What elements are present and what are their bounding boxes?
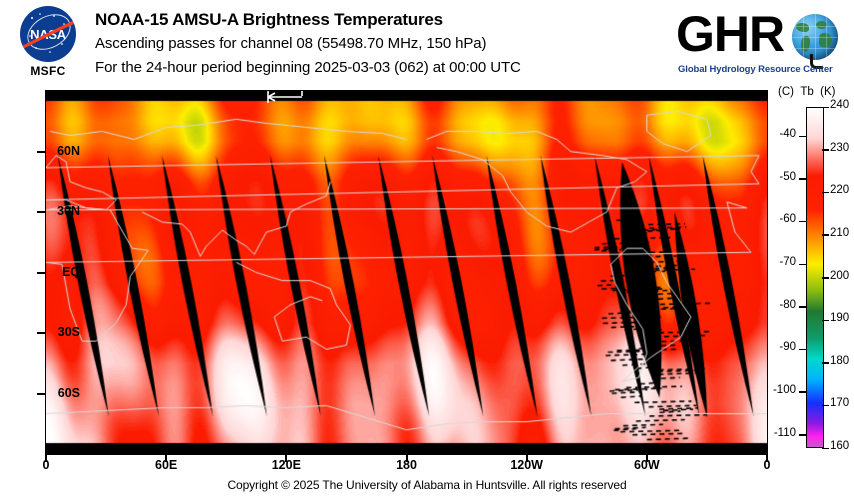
- colorbar-label-kelvin: 230: [830, 142, 849, 154]
- colorbar-label-kelvin: 180: [830, 355, 849, 367]
- colorbar-label-kelvin: 240: [830, 99, 849, 111]
- colorbar-tick-celsius: [799, 136, 806, 138]
- lat-tick: [37, 393, 45, 395]
- colorbar-tick-kelvin: [822, 448, 829, 450]
- colorbar-tick-celsius: [799, 221, 806, 223]
- nasa-swoosh-icon: [20, 19, 76, 51]
- ghrc-logo: GHR Global Hydrology Resource Center: [676, 8, 848, 82]
- lon-tick: [646, 455, 648, 462]
- brightness-temperature-heatmap: [46, 91, 767, 454]
- colorbar-unit-celsius: (C): [778, 86, 794, 98]
- colorbar-unit-kelvin: (K): [820, 86, 835, 98]
- colorbar-label-kelvin: 200: [830, 270, 849, 282]
- lat-label: EQ: [62, 265, 80, 279]
- colorbar-tick-kelvin: [822, 192, 829, 194]
- lon-tick: [285, 455, 287, 462]
- lon-tick: [526, 455, 528, 462]
- colorbar-tick-kelvin: [822, 149, 829, 151]
- lon-tick: [766, 455, 768, 462]
- colorbar-label-celsius: -70: [762, 256, 796, 268]
- lat-label: 60S: [58, 386, 80, 400]
- header: NASA MSFC NOAA-15 AMSU-A Brightness Temp…: [0, 0, 854, 90]
- lat-tick: [37, 272, 45, 274]
- colorbar-label-celsius: -40: [762, 128, 796, 140]
- colorbar-tick-celsius: [799, 178, 806, 180]
- colorbar-tick-kelvin: [822, 277, 829, 279]
- page-title: NOAA-15 AMSU-A Brightness Temperatures: [95, 8, 675, 32]
- left-arrow-marker: [266, 90, 304, 104]
- colorbar-label-kelvin: 210: [830, 227, 849, 239]
- lat-tick: [37, 151, 45, 153]
- nasa-center-label: MSFC: [14, 64, 82, 78]
- colorbar-tick-celsius: [799, 349, 806, 351]
- colorbar-label-celsius: -100: [762, 384, 796, 396]
- lon-tick: [165, 455, 167, 462]
- colorbar-label-celsius: -90: [762, 341, 796, 353]
- colorbar-label-celsius: -80: [762, 299, 796, 311]
- lon-tick: [45, 455, 47, 462]
- lon-tick: [406, 455, 408, 462]
- lat-label: 30N: [57, 204, 80, 218]
- map-plot-area[interactable]: [45, 90, 768, 455]
- lat-tick: [37, 332, 45, 334]
- ghrc-tagline: Global Hydrology Resource Center: [678, 64, 846, 75]
- nasa-insignia-icon: NASA: [20, 6, 76, 62]
- colorbar-label-kelvin: 170: [830, 397, 849, 409]
- colorbar-label-kelvin: 220: [830, 184, 849, 196]
- colorbar-label-kelvin: 160: [830, 440, 849, 452]
- colorbar-header: (C) Tb (K): [778, 86, 854, 98]
- colorbar-label-celsius: -50: [762, 171, 796, 183]
- colorbar-tick-kelvin: [822, 362, 829, 364]
- colorbar-tick-celsius: [799, 306, 806, 308]
- colorbar-label-kelvin: 190: [830, 312, 849, 324]
- colorbar-tick-kelvin: [822, 405, 829, 407]
- colorbar-tick-kelvin: [822, 320, 829, 322]
- lat-label: 60N: [57, 144, 80, 158]
- colorbar-tick-kelvin: [822, 107, 829, 109]
- title-block: NOAA-15 AMSU-A Brightness Temperatures A…: [95, 8, 675, 80]
- subtitle-channel: Ascending passes for channel 08 (55498.7…: [95, 32, 675, 56]
- colorbar-tick-celsius: [799, 434, 806, 436]
- colorbar-label-celsius: -110: [762, 427, 796, 439]
- nasa-logo: NASA MSFC: [14, 6, 82, 84]
- subtitle-period: For the 24-hour period beginning 2025-03…: [95, 56, 675, 80]
- colorbar-variable: Tb: [800, 86, 813, 98]
- colorbar-tick-kelvin: [822, 234, 829, 236]
- copyright-notice: Copyright © 2025 The University of Alaba…: [0, 478, 854, 492]
- colorbar-tick-celsius: [799, 264, 806, 266]
- lat-tick: [37, 211, 45, 213]
- lat-label: 30S: [58, 325, 80, 339]
- colorbar-tick-celsius: [799, 391, 806, 393]
- colorbar-label-celsius: -60: [762, 213, 796, 225]
